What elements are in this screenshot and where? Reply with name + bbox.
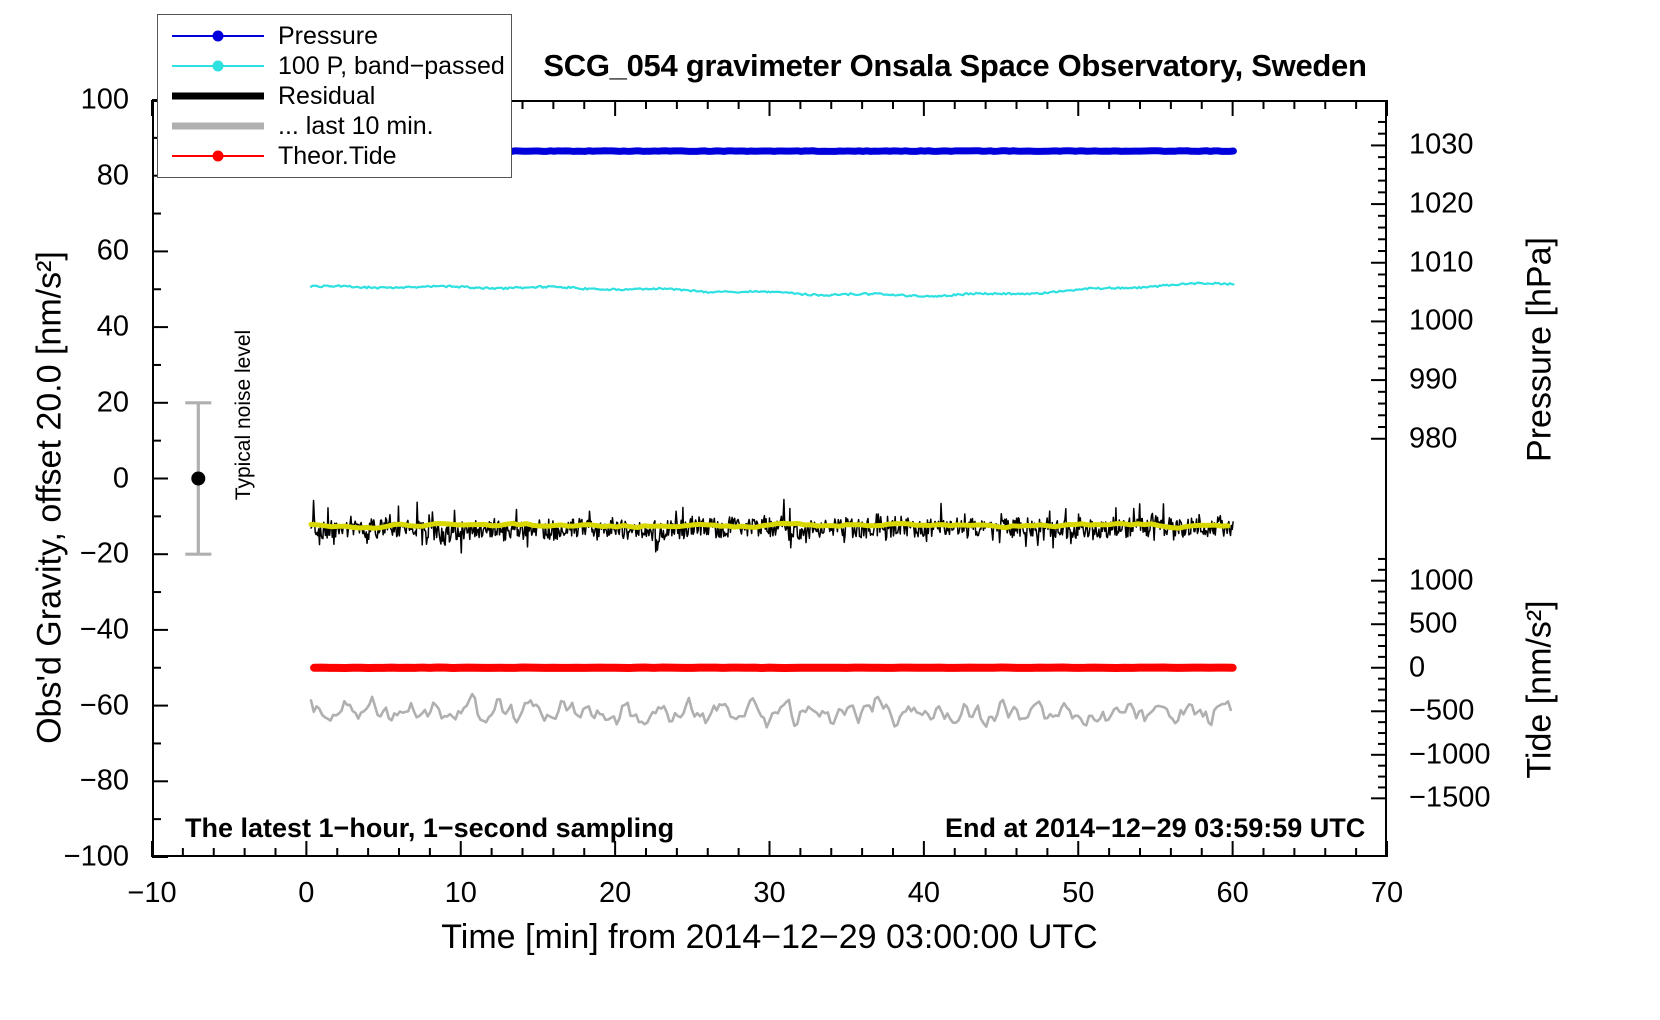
page-title: SCG_054 gravimeter Onsala Space Observat… (520, 48, 1390, 84)
legend-swatch-icon (172, 86, 264, 106)
legend-item-label: Theor.Tide (278, 142, 397, 171)
footer-note-sampling: The latest 1−hour, 1−second sampling (185, 813, 674, 844)
typical-noise-level-label: Typical noise level (232, 326, 256, 504)
axis-tick-label: 980 (1409, 424, 1457, 453)
axis-tick-label: 1000 (1409, 307, 1474, 336)
axis-tick-label: 1030 (1409, 131, 1474, 160)
axis-tick-label: 100 (34, 86, 129, 115)
legend-item-label: Residual (278, 82, 375, 111)
x-axis-title: Time [min] from 2014−12−29 03:00:00 UTC (152, 918, 1387, 957)
axis-tick-label: −1500 (1409, 784, 1490, 813)
axis-tick-label: −1000 (1409, 740, 1490, 769)
y-axis-tide-title: Tide [nm/s²] (1521, 490, 1560, 890)
legend-item-4[interactable]: Theor.Tide (158, 141, 511, 171)
y-axis-left-title: Obs'd Gravity, offset 20.0 [nm/s²] (31, 218, 70, 778)
legend-marker-dot-icon (213, 61, 224, 72)
legend-item-label: 100 P, band−passed (278, 52, 505, 81)
legend-marker-dot-icon (213, 151, 224, 162)
legend-line-icon (172, 123, 264, 130)
axis-tick-label: 60 (1216, 879, 1248, 908)
axis-tick-label: −100 (34, 843, 129, 872)
legend-item-3[interactable]: ... last 10 min. (158, 111, 511, 141)
plot-area (152, 100, 1387, 857)
legend-item-1[interactable]: 100 P, band−passed (158, 51, 511, 81)
axis-tick-label: 20 (599, 879, 631, 908)
legend-swatch-icon (172, 116, 264, 136)
axis-tick-label: 10 (445, 879, 477, 908)
axis-tick-label: 80 (34, 161, 129, 190)
axis-tick-label: −500 (1409, 697, 1474, 726)
axis-tick-label: 990 (1409, 366, 1457, 395)
axis-tick-label: 1010 (1409, 248, 1474, 277)
legend-marker-dot-icon (213, 31, 224, 42)
axis-tick-label: 500 (1409, 610, 1457, 639)
axis-tick-label: 50 (1062, 879, 1094, 908)
axis-tick-label: 0 (298, 879, 314, 908)
axis-tick-label: 40 (908, 879, 940, 908)
legend-item-label: Pressure (278, 22, 378, 51)
legend-item-2[interactable]: Residual (158, 81, 511, 111)
axis-tick-label: 70 (1371, 879, 1403, 908)
axis-tick-label: 1000 (1409, 566, 1474, 595)
legend-item-0[interactable]: Pressure (158, 21, 511, 51)
legend-line-icon (172, 93, 264, 100)
axis-tick-label: 1020 (1409, 190, 1474, 219)
legend-swatch-icon (172, 146, 264, 166)
legend-swatch-icon (172, 26, 264, 46)
footer-note-end-time: End at 2014−12−29 03:59:59 UTC (945, 813, 1365, 844)
legend-swatch-icon (172, 56, 264, 76)
axis-tick-label: −10 (127, 879, 176, 908)
chart-page: SCG_054 gravimeter Onsala Space Observat… (0, 0, 1660, 1020)
chart-legend: Pressure100 P, band−passedResidual... la… (157, 14, 512, 178)
axis-tick-label: 30 (753, 879, 785, 908)
axis-tick-label: 0 (1409, 653, 1425, 682)
legend-item-label: ... last 10 min. (278, 112, 434, 141)
